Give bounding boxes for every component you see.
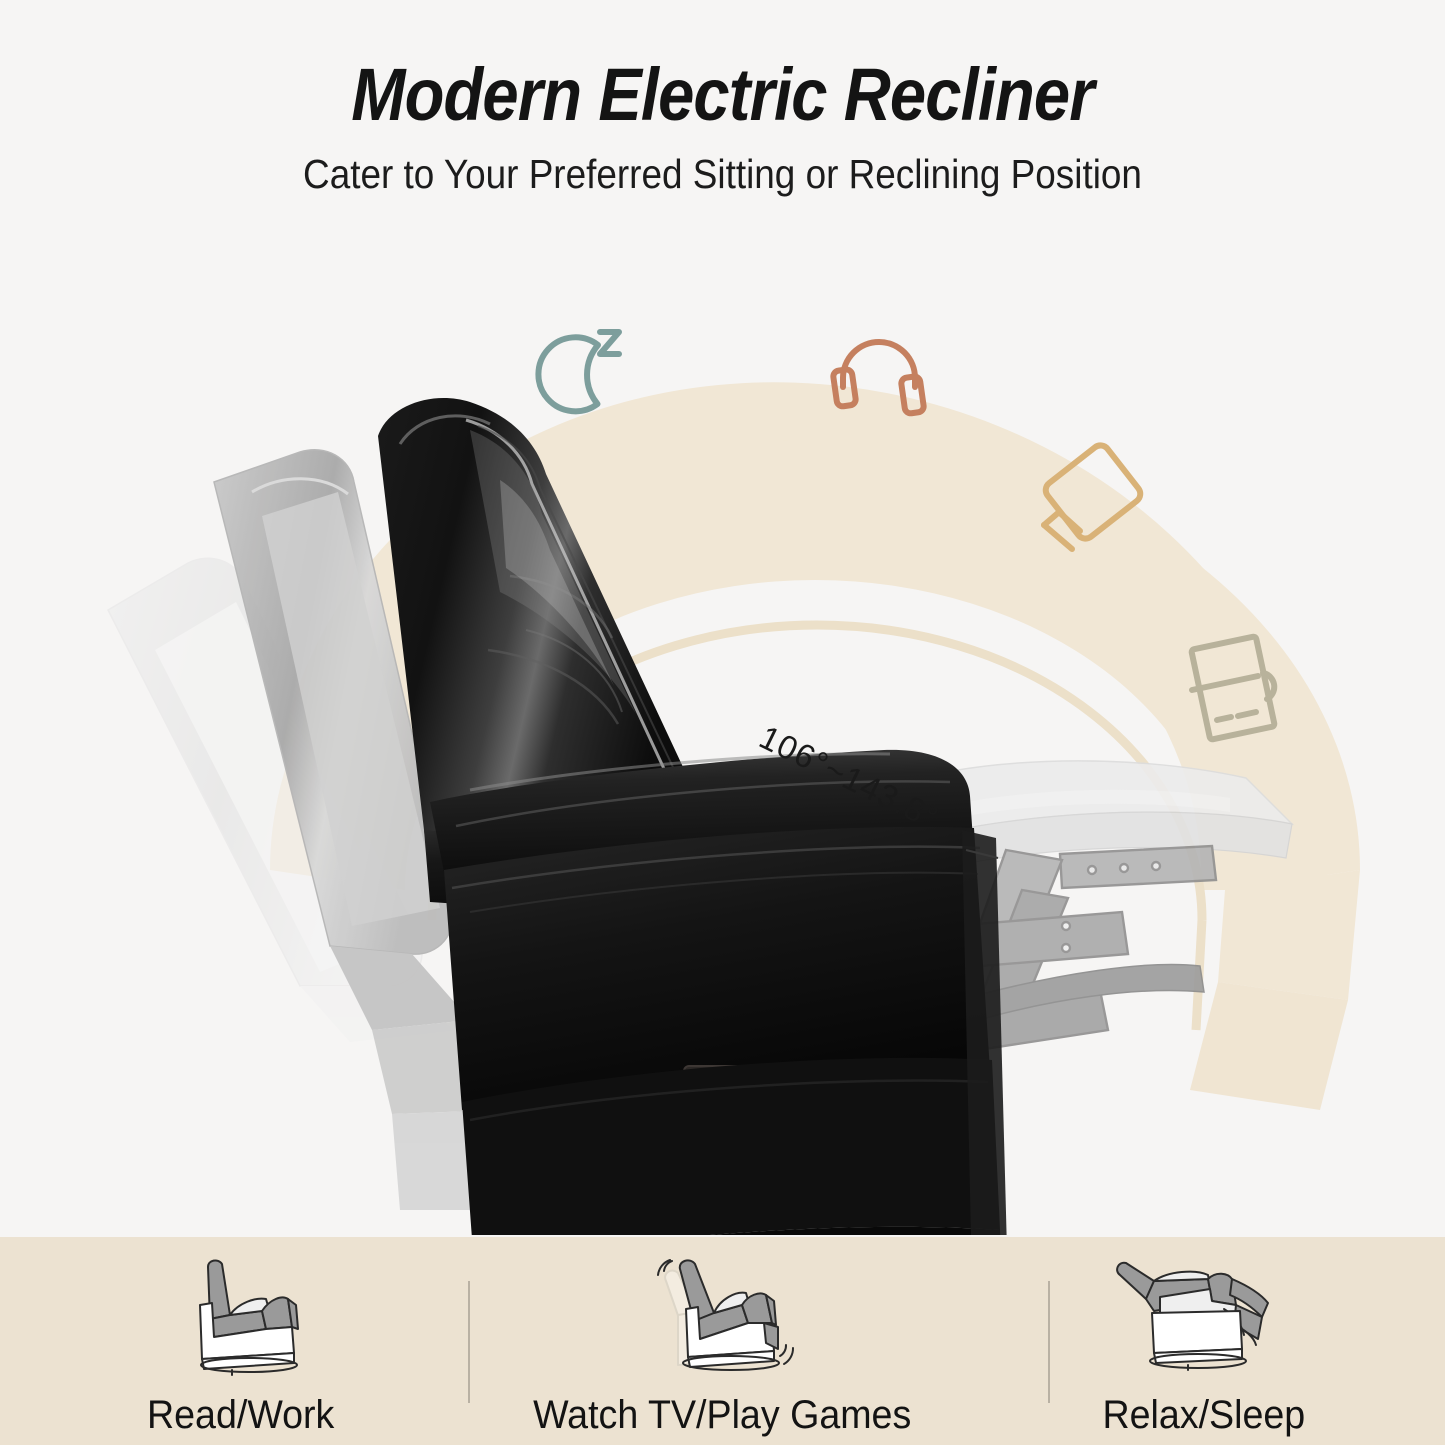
scenario-watch-tv-play-games: Watch TV/Play Games <box>482 1237 964 1445</box>
page-title: Modern Electric Recliner <box>87 0 1359 132</box>
scenario-read-work: Read/Work <box>0 1237 482 1445</box>
scenario-label: Relax/Sleep <box>1103 1393 1306 1438</box>
rocking-chair-icon <box>638 1253 808 1379</box>
scenario-relax-sleep: Relax/Sleep <box>963 1237 1445 1445</box>
scenario-label: Watch TV/Play Games <box>533 1393 911 1438</box>
upright-chair-icon <box>166 1253 316 1379</box>
reclined-chair-icon <box>1112 1253 1297 1379</box>
scenario-label: Read/Work <box>147 1393 334 1438</box>
hero-illustration: 106°~143.8° <box>0 230 1445 1235</box>
page-subtitle: Cater to Your Preferred Sitting or Recli… <box>72 132 1373 195</box>
product-feature-image: Modern Electric Recliner Cater to Your P… <box>0 0 1445 1445</box>
usage-scenarios-band: Read/Work <box>0 1237 1445 1445</box>
header: Modern Electric Recliner Cater to Your P… <box>0 0 1445 195</box>
moon-sleep-icon <box>538 332 619 411</box>
